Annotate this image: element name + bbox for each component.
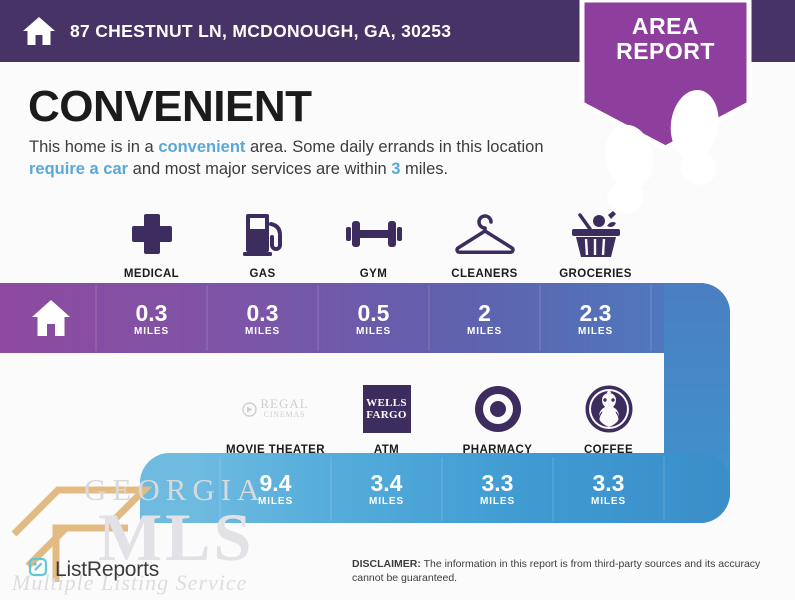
distance-value: 3.3: [593, 471, 625, 495]
home-icon: [22, 15, 56, 47]
subtitle-part-2: area. Some daily errands in this locatio…: [245, 138, 543, 156]
category-gas: GAS: [207, 196, 318, 280]
category-label: GAS: [249, 268, 275, 280]
distance-value: 0.3: [136, 301, 168, 325]
distance-value: 2.3: [580, 301, 612, 325]
subtitle-part-4: miles.: [400, 160, 448, 178]
brand-line-1: REGAL: [260, 398, 308, 409]
category-movie-theater: REGAL CINEMAS MOVIE THEATER: [220, 368, 331, 456]
distance-coffee: 3.3 MILES: [553, 458, 664, 520]
property-address: 87 CHESTNUT LN, MCDONOUGH, GA, 30253: [70, 21, 451, 42]
category-label: GYM: [360, 268, 387, 280]
category-label: GROCERIES: [559, 268, 632, 280]
disclaimer: DISCLAIMER: The information in this repo…: [352, 557, 782, 585]
row2-distances: 9.4 MILES 3.4 MILES 3.3 MILES 3.3 MILES: [220, 458, 664, 520]
category-gym: GYM: [318, 196, 429, 280]
row1-distances: 0.3 MILES 0.3 MILES 0.5 MILES 2 MILES 2.…: [96, 288, 736, 350]
distance-movie-theater: 9.4 MILES: [220, 458, 331, 520]
clothes-hanger-icon: [454, 205, 516, 263]
category-medical: MEDICAL: [96, 196, 207, 280]
category-label: ATM: [374, 444, 399, 456]
distance-atm: 3.4 MILES: [331, 458, 442, 520]
distance-unit: MILES: [591, 496, 626, 507]
category-label: COFFEE: [584, 444, 633, 456]
wells-fargo-logo: WELLS FARGO: [363, 379, 411, 439]
category-pharmacy: PHARMACY: [442, 368, 553, 456]
subtitle-accent-1: convenient: [158, 138, 245, 156]
distance-unit: MILES: [356, 326, 391, 337]
listreports-wordmark: ListReports: [55, 558, 159, 582]
distance-unit: MILES: [480, 496, 515, 507]
distance-gym: 0.5 MILES: [318, 288, 429, 350]
distance-gas: 0.3 MILES: [207, 288, 318, 350]
distance-unit: MILES: [258, 496, 293, 507]
listreports-tag-icon: [27, 556, 49, 583]
distance-groceries: 2.3 MILES: [540, 288, 651, 350]
page-title: CONVENIENT: [28, 82, 311, 132]
distance-value: 2: [478, 301, 491, 325]
gas-pump-icon: [240, 205, 286, 263]
distance-value: 0.5: [358, 301, 390, 325]
category-label: MEDICAL: [124, 268, 179, 280]
category-label: MOVIE THEATER: [226, 444, 325, 456]
category-label: PHARMACY: [463, 444, 533, 456]
category-atm: WELLS FARGO ATM: [331, 368, 442, 456]
starbucks-logo: [584, 379, 634, 439]
header-content: 87 CHESTNUT LN, MCDONOUGH, GA, 30253: [22, 0, 451, 62]
brand-line-2: CINEMAS: [260, 409, 308, 420]
distance-unit: MILES: [134, 326, 169, 337]
dumbbell-icon: [345, 205, 403, 263]
distance-unit: MILES: [369, 496, 404, 507]
distance-medical: 0.3 MILES: [96, 288, 207, 350]
distance-cleaners: 2 MILES: [429, 288, 540, 350]
row2-categories: REGAL CINEMAS MOVIE THEATER WELLS FARGO …: [220, 368, 664, 456]
distance-pharmacy: 3.3 MILES: [442, 458, 553, 520]
listreports-logo: ListReports: [27, 556, 159, 583]
distance-unit: MILES: [245, 326, 280, 337]
grocery-basket-icon: [568, 205, 624, 263]
distance-unit: MILES: [578, 326, 613, 337]
distance-value: 3.4: [371, 471, 403, 495]
area-report-badge: AREA REPORT: [578, 0, 753, 152]
subtitle-part-3: and most major services are within: [128, 160, 391, 178]
category-groceries: GROCERIES: [540, 196, 651, 280]
subtitle-accent-2: require a car: [29, 160, 128, 178]
category-label: CLEANERS: [451, 268, 517, 280]
area-report-infographic: 87 CHESTNUT LN, MCDONOUGH, GA, 30253 ARE…: [0, 0, 795, 600]
brand-line-1: WELLS: [366, 397, 407, 410]
distance-value: 3.3: [482, 471, 514, 495]
page-subtitle: This home is in a convenient area. Some …: [29, 136, 559, 180]
category-coffee: COFFEE: [553, 368, 664, 456]
brand-line-2: FARGO: [366, 409, 406, 422]
target-logo: [473, 379, 523, 439]
disclaimer-label: DISCLAIMER:: [352, 558, 421, 570]
distance-unit: MILES: [467, 326, 502, 337]
medical-cross-icon: [129, 205, 175, 263]
subtitle-part-1: This home is in a: [29, 138, 158, 156]
regal-cinemas-logo: REGAL CINEMAS: [242, 379, 308, 439]
category-cleaners: CLEANERS: [429, 196, 540, 280]
row1-categories: MEDICAL GAS: [96, 196, 736, 280]
distance-value: 9.4: [260, 471, 292, 495]
distance-value: 0.3: [247, 301, 279, 325]
